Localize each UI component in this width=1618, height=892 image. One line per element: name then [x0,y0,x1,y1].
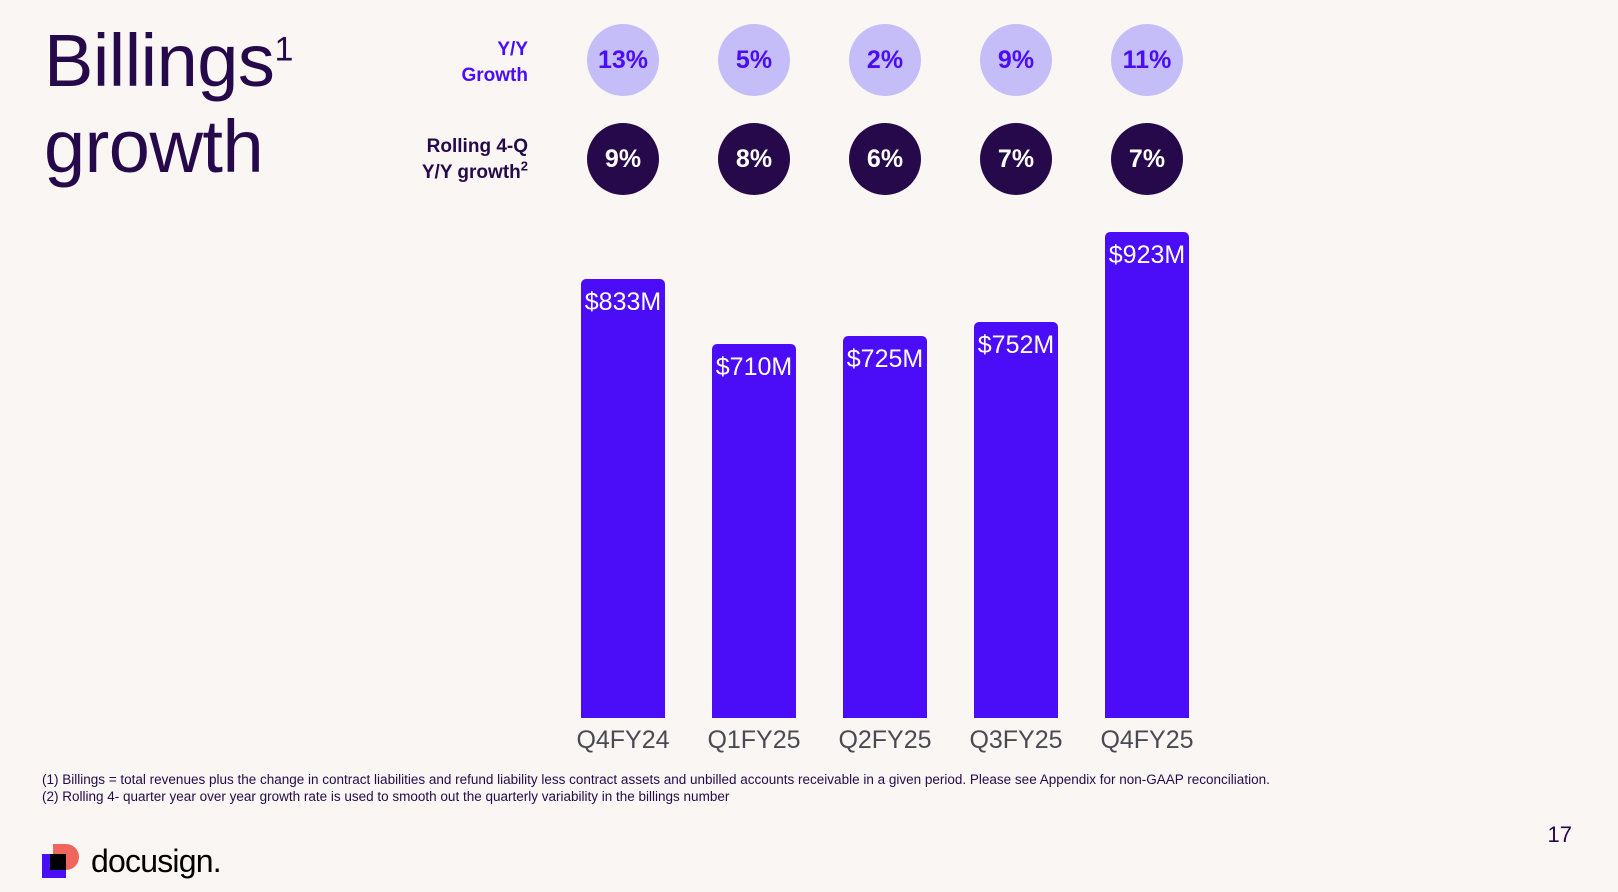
yy-growth-row-label: Y/Y Growth [300,37,528,89]
x-axis-category-label: Q3FY25 [964,726,1068,755]
docusign-logo: docusign. [40,841,221,881]
docusign-mark-svg [40,842,82,880]
rolling-growth-bubble: 6% [849,123,921,195]
chart-column: 9%7%$752MQ3FY25 [974,0,1058,760]
bar-value-label: $710M [712,353,796,382]
billings-bar-chart: 13%9%$833MQ4FY245%8%$710MQ1FY252%6%$725M… [581,0,1581,892]
yy-growth-bubble: 9% [980,24,1052,96]
yy-growth-bubble: 2% [849,24,921,96]
x-axis-category-label: Q4FY24 [571,726,675,755]
docusign-trademark-dot: . [213,843,221,879]
rolling-label-text: Y/Y growth [422,162,521,183]
footnotes-block: (1) Billings = total revenues plus the c… [42,771,1542,805]
bar-value-label: $725M [843,345,927,374]
x-axis-category-label: Q2FY25 [833,726,937,755]
rolling-growth-row-label: Rolling 4-Q Y/Y growth2 [250,134,528,186]
chart-column: 13%9%$833MQ4FY24 [581,0,665,760]
bar-value-label: $833M [581,288,665,317]
chart-column: 2%6%$725MQ2FY25 [843,0,927,760]
rolling-growth-bubble: 7% [980,123,1052,195]
page-number: 17 [1548,822,1572,848]
bar-value-label: $752M [974,331,1058,360]
chart-column: 5%8%$710MQ1FY25 [712,0,796,760]
bar: $923M [1105,232,1189,718]
x-axis-category-label: Q1FY25 [702,726,806,755]
title-text-billings: Billings [44,19,274,102]
slide-canvas: Billings1 growth Y/Y Growth Rolling 4-Q … [0,0,1618,892]
rolling-footnote-marker-2: 2 [521,159,528,174]
docusign-wordmark: docusign. [91,844,221,878]
yy-growth-bubble: 13% [587,24,659,96]
bar: $710M [712,344,796,718]
footnote-2: (2) Rolling 4- quarter year over year gr… [42,788,1542,805]
title-footnote-marker-1: 1 [274,30,292,68]
bar-value-label: $923M [1105,241,1189,270]
yy-growth-label-line1: Y/Y [300,37,528,63]
bar: $833M [581,279,665,718]
footnote-1: (1) Billings = total revenues plus the c… [42,771,1542,788]
rolling-label-line2: Y/Y growth2 [250,160,528,186]
yy-growth-bubble: 11% [1111,24,1183,96]
chart-column: 11%7%$923MQ4FY25 [1105,0,1189,760]
x-axis-category-label: Q4FY25 [1095,726,1199,755]
rolling-label-line1: Rolling 4-Q [250,134,528,160]
rolling-growth-bubble: 9% [587,123,659,195]
rolling-growth-bubble: 8% [718,123,790,195]
docusign-logo-mark-icon [40,842,82,880]
yy-growth-label-line2: Growth [300,63,528,89]
bar: $752M [974,322,1058,718]
rolling-growth-bubble: 7% [1111,123,1183,195]
docusign-wordmark-text: docusign [91,843,213,879]
bar: $725M [843,336,927,718]
yy-growth-bubble: 5% [718,24,790,96]
